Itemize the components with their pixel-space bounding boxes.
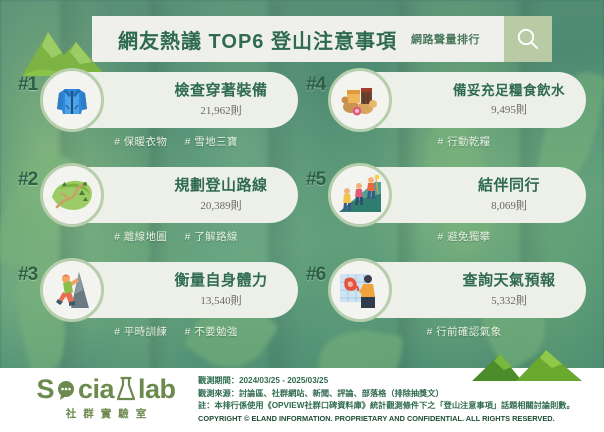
tag: # 行前確認氣象: [427, 326, 502, 338]
observation-period: 觀測期間：2024/03/25 - 2025/03/25: [198, 375, 594, 388]
rank-label: #4: [306, 74, 325, 96]
item-icon-circle: [328, 258, 392, 322]
item-count: 5,332則: [438, 292, 580, 308]
climber-icon: [49, 268, 95, 312]
list-item[interactable]: #4 備妥充足糧食飲水 9,495則: [306, 72, 598, 167]
item-title: 規劃登山路線: [150, 177, 292, 194]
search-icon: [515, 26, 541, 52]
trail-map-icon: [49, 175, 95, 215]
item-tags: # 行前確認氣象: [342, 324, 586, 339]
item-tags: # 行動乾糧: [342, 134, 586, 149]
item-tags: # 平時訓練 # 不要勉強: [54, 324, 298, 339]
item-count: 9,495則: [438, 101, 580, 117]
page-title: 網友熱議 TOP6 登山注意事項: [118, 25, 397, 54]
tag: # 行動乾糧: [437, 136, 490, 148]
item-count: 20,389則: [150, 197, 292, 213]
item-count: 8,069則: [438, 197, 580, 213]
footer-notes: 觀測期間：2024/03/25 - 2025/03/25 觀測來源：討論區、社群…: [198, 375, 594, 425]
header: 網友熱議 TOP6 登山注意事項 網路聲量排行: [0, 16, 604, 62]
tag: # 平時訓練: [114, 326, 167, 338]
observation-source: 觀測來源：討論區、社群網站、新聞、評論、部落格（排除抽獎文）: [198, 388, 594, 401]
snacks-icon: [337, 80, 383, 120]
rank-label: #6: [306, 264, 325, 286]
search-button[interactable]: [504, 16, 552, 62]
rank-label: #1: [18, 74, 37, 96]
logo-text-cia: cia: [78, 376, 114, 403]
item-icon-circle: [40, 163, 104, 227]
rank-label: #2: [18, 169, 37, 191]
hiking-group-icon: [337, 174, 383, 216]
list-item[interactable]: #5 結伴同行 8,069則: [306, 167, 598, 262]
item-title: 檢查穿著裝備: [150, 82, 292, 99]
item-count: 13,540則: [150, 292, 292, 308]
speech-bubble-icon: [55, 376, 77, 403]
item-title: 結伴同行: [438, 177, 580, 194]
tag: # 保暖衣物: [114, 136, 167, 148]
header-bar: 網友熱議 TOP6 登山注意事項 網路聲量排行: [92, 16, 552, 62]
logo-text-s: S: [36, 376, 54, 403]
item-title: 衡量自身體力: [150, 272, 292, 289]
item-title: 查詢天氣預報: [438, 272, 580, 289]
social-lab-logo: S cia lab: [26, 376, 186, 421]
ranking-column-right: #4 備妥充足糧食飲水 9,495則: [306, 72, 598, 357]
item-tags: # 避免獨攀: [342, 229, 586, 244]
tag: # 了解路線: [185, 231, 238, 243]
rank-label: #5: [306, 169, 325, 191]
logo-subtitle: 社群實驗室: [26, 406, 186, 421]
item-icon-circle: [40, 68, 104, 132]
logo-text-lab: lab: [138, 376, 176, 403]
item-icon-circle: [328, 68, 392, 132]
weather-forecast-icon: [337, 269, 383, 311]
list-item[interactable]: #1 檢查穿著裝備 21,962則: [18, 72, 310, 167]
list-item[interactable]: #2 規劃登山路線 20,389則: [18, 167, 310, 262]
tag: # 雪地三寶: [185, 136, 238, 148]
tag: # 離線地圖: [114, 231, 167, 243]
item-tags: # 保暖衣物 # 雪地三寶: [54, 134, 298, 149]
item-tags: # 離線地圖 # 了解路線: [54, 229, 298, 244]
item-title: 備妥充足糧食飲水: [438, 83, 580, 99]
flask-icon: [115, 376, 137, 403]
item-icon-circle: [328, 163, 392, 227]
item-count: 21,962則: [150, 102, 292, 118]
ranking-column-left: #1 檢查穿著裝備 21,962則: [18, 72, 310, 357]
header-subtitle: 網路聲量排行: [411, 31, 480, 47]
list-item[interactable]: #6 查詢天氣預報 5,332則: [306, 262, 598, 357]
tag: # 避免獨攀: [437, 231, 490, 243]
list-item[interactable]: #3 衡量自身體力 13,540則: [18, 262, 310, 357]
footer: S cia lab: [0, 368, 604, 432]
rank-label: #3: [18, 264, 37, 286]
jacket-icon: [50, 78, 94, 122]
copyright: COPYRIGHT © ELAND INFORMATION. PROPRIETA…: [198, 413, 594, 425]
item-icon-circle: [40, 258, 104, 322]
infographic-canvas: 網友熱議 TOP6 登山注意事項 網路聲量排行 #1: [0, 0, 604, 432]
footnote: 註：本排行係使用《OPVIEW社群口碑資料庫》統計觀測條件下之「登山注意事項」話…: [198, 400, 594, 413]
tag: # 不要勉強: [185, 326, 238, 338]
